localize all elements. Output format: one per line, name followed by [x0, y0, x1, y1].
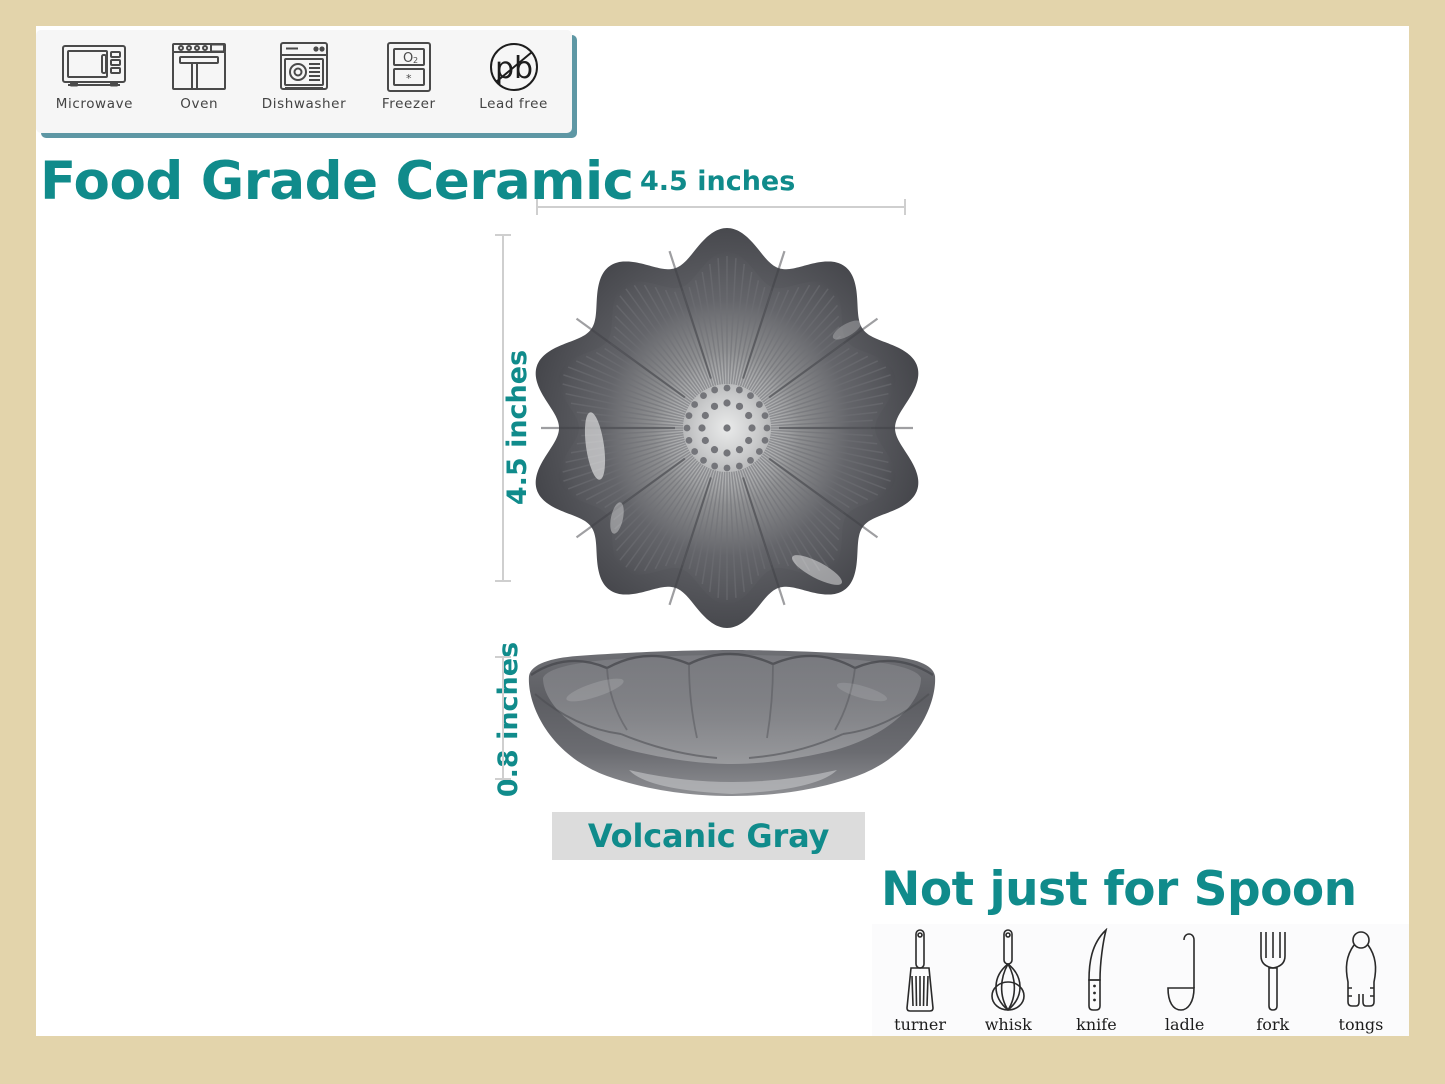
badge-label: Freezer: [382, 96, 436, 112]
dishwasher-icon: [278, 39, 330, 95]
badge-oven: Oven: [147, 34, 252, 133]
utensil-label: tongs: [1339, 1015, 1384, 1034]
ladle-icon: [1164, 926, 1206, 1014]
badge-microwave: Microwave: [42, 34, 147, 133]
whisk-icon: [987, 926, 1029, 1014]
utensil-fork: fork: [1229, 926, 1317, 1036]
feature-badge-bar: Microwave: [36, 30, 572, 133]
color-name-label: Volcanic Gray: [588, 817, 829, 855]
dimension-height-line: [502, 234, 504, 582]
badge-label: Microwave: [56, 96, 133, 112]
dimension-height-tick-bottom: [495, 580, 511, 582]
product-image-side-view: [517, 642, 947, 802]
dimension-width-label: 4.5 inches: [640, 166, 795, 197]
badge-label: Oven: [180, 96, 218, 112]
infographic-page: Microwave: [0, 0, 1445, 1084]
dimension-width-line: [536, 206, 906, 208]
utensil-label: fork: [1256, 1015, 1289, 1034]
dimension-width-tick-right: [904, 199, 906, 215]
badge-lead-free: pb Lead free: [461, 34, 566, 133]
microwave-icon: [61, 39, 127, 95]
turner-icon: [899, 926, 941, 1014]
utensils-panel: turner whisk: [872, 924, 1409, 1036]
utensil-whisk: whisk: [964, 926, 1052, 1036]
oven-icon: [170, 39, 228, 95]
product-image-top-view: [517, 218, 937, 638]
knife-icon: [1075, 926, 1117, 1014]
utensil-turner: turner: [876, 926, 964, 1036]
utensil-label: ladle: [1165, 1015, 1204, 1034]
utensil-knife: knife: [1052, 926, 1140, 1036]
utensil-ladle: ladle: [1141, 926, 1229, 1036]
svg-text:2: 2: [413, 56, 418, 65]
lead-free-icon: pb: [487, 39, 541, 95]
utensil-tongs: tongs: [1317, 926, 1405, 1036]
infographic-canvas: Microwave: [36, 26, 1409, 1036]
tongs-icon: [1340, 926, 1382, 1014]
badge-label: Dishwasher: [262, 96, 347, 112]
fork-icon: [1252, 926, 1294, 1014]
svg-text:O: O: [403, 51, 413, 66]
utensil-label: knife: [1076, 1015, 1117, 1034]
page-title: Food Grade Ceramic: [40, 151, 634, 212]
badge-dishwasher: Dishwasher: [252, 34, 357, 133]
section-title-not-just-for-spoon: Not just for Spoon: [881, 862, 1357, 917]
utensil-label: turner: [894, 1015, 946, 1034]
badge-freezer: O 2 * Freezer: [356, 34, 461, 133]
dimension-depth-line: [502, 656, 504, 780]
dimension-height-tick-top: [495, 234, 511, 236]
color-name-band: Volcanic Gray: [552, 812, 865, 860]
badge-label: Lead free: [479, 96, 548, 112]
dimension-depth-tick-top: [495, 656, 511, 658]
svg-text:*: *: [406, 72, 412, 85]
dimension-depth-tick-bottom: [495, 778, 511, 780]
utensil-label: whisk: [985, 1015, 1032, 1034]
freezer-icon: O 2 *: [385, 39, 433, 95]
dimension-width-tick-left: [536, 199, 538, 215]
